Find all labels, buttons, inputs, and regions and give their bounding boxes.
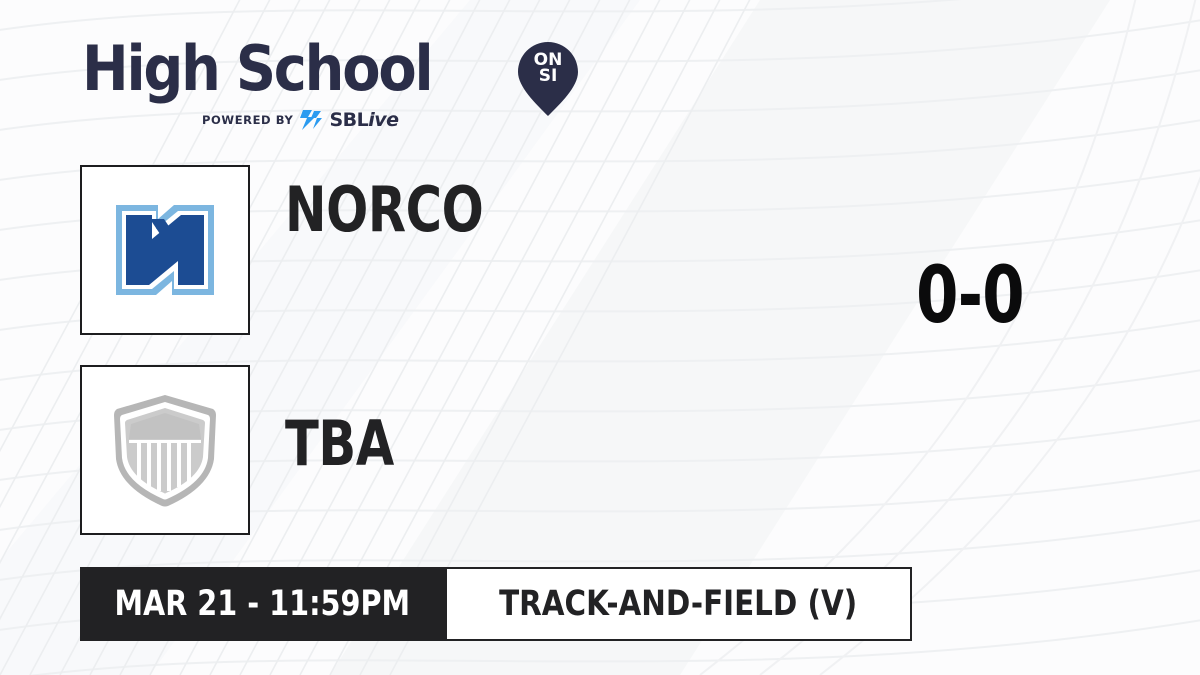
norco-block-n-logo	[82, 167, 248, 333]
lightning-bolt-s-icon	[300, 110, 322, 130]
map-pin-icon: ON SI	[518, 42, 578, 116]
powered-by-block: POWERED BY SBLive	[202, 110, 399, 130]
generic-shield-placeholder-logo	[82, 367, 248, 533]
powered-by-label: POWERED BY	[202, 113, 293, 127]
game-info-bar: MAR 21 - 11:59PM TRACK-AND-FIELD (V)	[80, 567, 912, 641]
team-name-home: NORCO	[285, 179, 483, 241]
team-logo-box-home	[80, 165, 250, 335]
sblive-wordmark-main: SBL	[329, 109, 368, 131]
brand-wordmark: High School	[82, 36, 512, 102]
pin-label-si: SI	[518, 68, 578, 85]
game-sport-chip: TRACK-AND-FIELD (V)	[445, 567, 912, 641]
sblive-wordmark: SBLive	[329, 111, 398, 130]
game-datetime-chip: MAR 21 - 11:59PM	[80, 567, 445, 641]
team-logo-box-away	[80, 365, 250, 535]
game-sport-text: TRACK-AND-FIELD (V)	[499, 587, 857, 622]
sblive-wordmark-suffix: ive	[368, 109, 398, 131]
score-value: 0-0	[916, 257, 1024, 335]
score-display: 0-0	[845, 257, 1095, 335]
brand-header: High School ON SI POWERED BY SBLive	[82, 36, 512, 132]
scoreboard-card: High School ON SI POWERED BY SBLive	[0, 0, 1200, 675]
team-name-away: TBA	[285, 413, 394, 475]
game-datetime-text: MAR 21 - 11:59PM	[115, 587, 411, 622]
